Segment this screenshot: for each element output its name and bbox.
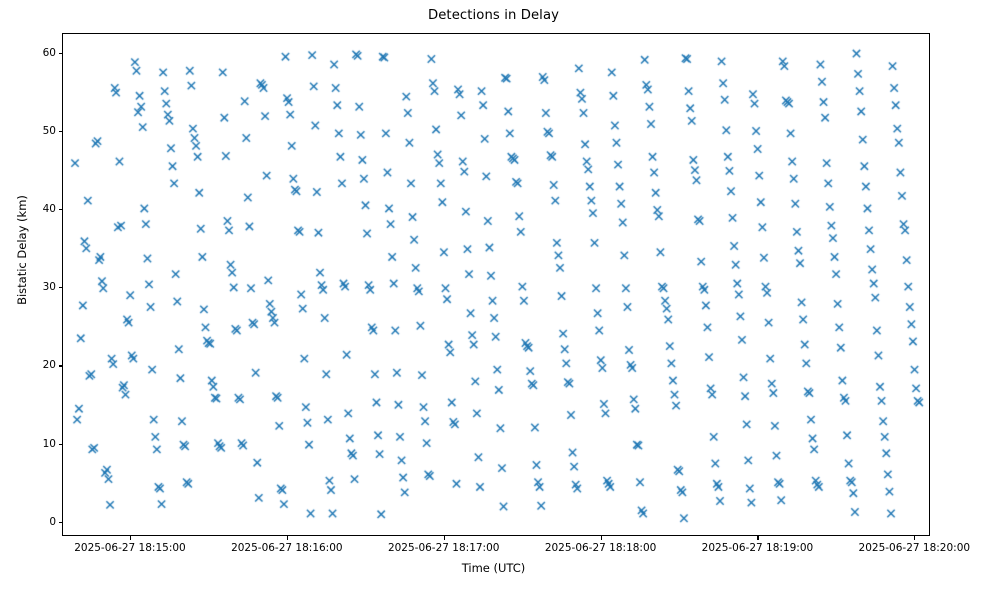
x-tick-mark	[601, 536, 602, 540]
x-tick-label: 2025-06-27 18:18:00	[545, 542, 657, 554]
x-tick-label: 2025-06-27 18:15:00	[74, 542, 186, 554]
plot-axes	[62, 33, 930, 536]
x-tick-label: 2025-06-27 18:16:00	[231, 542, 343, 554]
x-tick-label: 2025-06-27 18:19:00	[702, 542, 814, 554]
matplotlib-figure: Detections in Delay 2025-06-27 18:15:002…	[0, 0, 987, 590]
page-title: Detections in Delay	[0, 8, 987, 23]
x-tick-mark	[287, 536, 288, 540]
x-tick-mark	[130, 536, 131, 540]
x-tick-mark	[757, 536, 758, 540]
x-tick-label: 2025-06-27 18:20:00	[859, 542, 971, 554]
x-tick-label: 2025-06-27 18:17:00	[388, 542, 500, 554]
x-tick-mark	[914, 536, 915, 540]
scatter-plot-canvas	[63, 34, 930, 536]
y-axis-label: Bistatic Delay (km)	[15, 100, 29, 400]
y-axis-label-wrap: Bistatic Delay (km)	[0, 0, 30, 590]
x-tick-mark	[444, 536, 445, 540]
x-axis-label: Time (UTC)	[0, 561, 987, 575]
